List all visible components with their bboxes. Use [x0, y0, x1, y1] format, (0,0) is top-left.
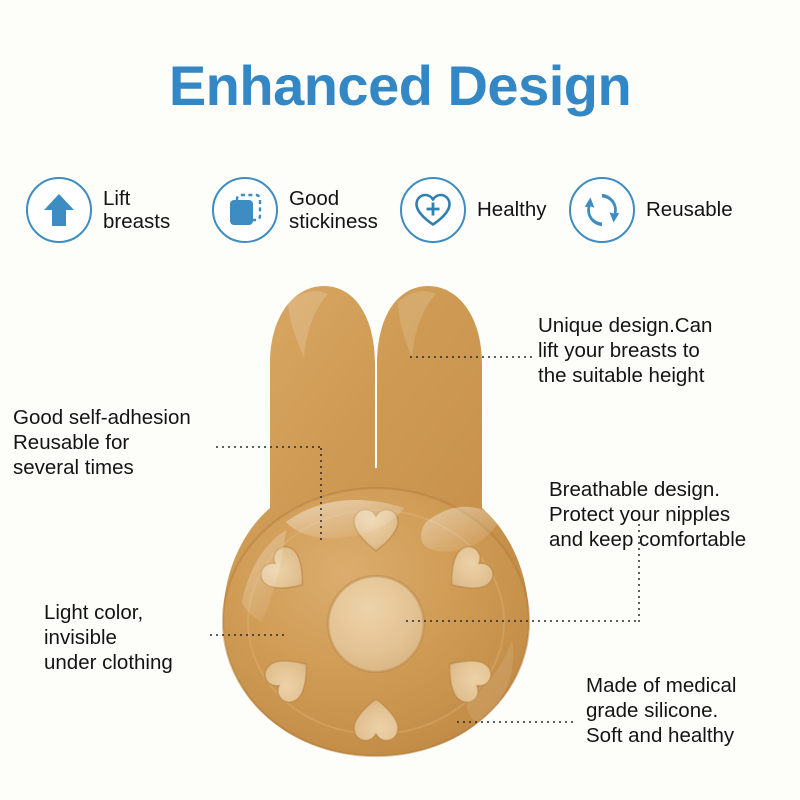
- callout-medical-grade-silicone: Made of medical grade silicone. Soft and…: [586, 673, 736, 748]
- feature-item-lift-breasts: Lift breasts: [26, 168, 170, 252]
- infographic-page: Enhanced Design Lift breasts Good sticki…: [0, 0, 800, 800]
- feature-label: Good stickiness: [289, 187, 378, 233]
- up-arrow-icon: [26, 177, 92, 243]
- callout-unique-design: Unique design.Can lift your breasts to t…: [538, 313, 712, 388]
- recycle-icon: [569, 177, 635, 243]
- heart-plus-icon: [400, 177, 466, 243]
- sticker-icon: [212, 177, 278, 243]
- feature-label: Healthy: [477, 198, 547, 221]
- product-image-silicone-nipple-cover: [212, 272, 540, 780]
- feature-item-good-stickiness: Good stickiness: [212, 168, 378, 252]
- page-title: Enhanced Design: [0, 58, 800, 114]
- callout-good-self-adhesion: Good self-adhesion Reusable for several …: [13, 405, 191, 480]
- callout-light-color: Light color, invisible under clothing: [44, 600, 173, 675]
- feature-row: Lift breasts Good stickiness Healthy: [26, 168, 774, 252]
- feature-item-healthy: Healthy: [400, 168, 547, 252]
- feature-item-reusable: Reusable: [569, 168, 733, 252]
- feature-label: Reusable: [646, 198, 733, 221]
- callout-breathable-design: Breathable design. Protect your nipples …: [549, 477, 746, 552]
- feature-label: Lift breasts: [103, 187, 170, 233]
